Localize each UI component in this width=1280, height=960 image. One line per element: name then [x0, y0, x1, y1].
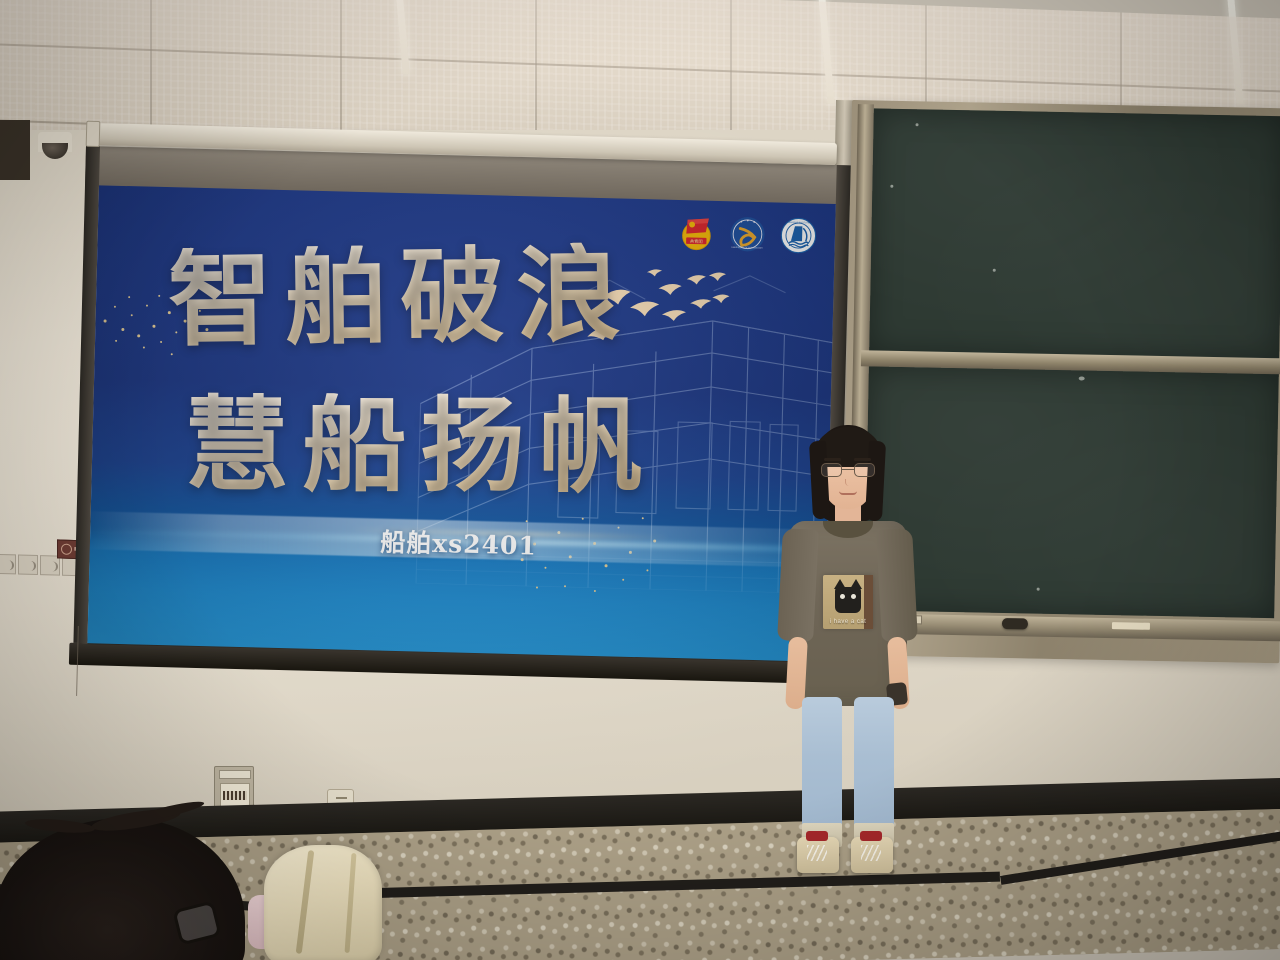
eyeglass-lens [172, 900, 221, 945]
projector-screen: 智舶破浪 慧船扬帆 船舶xs2401 共青团 [73, 146, 851, 680]
communist-youth-league-emblem-icon: 共青团 [678, 214, 716, 252]
cat-body [835, 587, 861, 613]
sneaker-right [851, 837, 893, 873]
roller-end-cap [86, 121, 101, 147]
presenter-nose [845, 479, 851, 486]
presenter-eyebrow [854, 458, 871, 461]
slide-title-line-1: 智舶破浪 [168, 242, 633, 352]
maritime-institute-logo-icon: MARITIME INSTITUTE [779, 217, 817, 255]
presenter-mouth [839, 491, 857, 495]
wall-tile [18, 554, 38, 575]
bag-zipper [296, 850, 315, 954]
bag-zipper [345, 853, 357, 953]
chalk-mark [1079, 376, 1085, 380]
audience-eyeglasses-icon [176, 905, 240, 945]
sneaker-left [797, 837, 839, 873]
presenter-eyebrow [824, 458, 841, 461]
jeans-leg-left [802, 697, 842, 847]
eyeglass-bridge [842, 469, 854, 470]
shoe-laces [807, 845, 827, 861]
cat-eye [840, 594, 845, 599]
round-eyeglasses-icon [821, 463, 875, 477]
university-logo-icon: UNIVERSITY OF TECHNOLOGY [729, 215, 767, 253]
dome-security-camera [38, 132, 72, 152]
eyeglass-lens [854, 463, 875, 477]
red-sock [860, 831, 882, 841]
chalk-mark [1037, 588, 1040, 591]
tshirt-sleeve-left [777, 528, 819, 642]
chalk-mark [993, 269, 996, 272]
presentation-slide: 智舶破浪 慧船扬帆 船舶xs2401 共青团 [87, 185, 835, 663]
black-cat-print: i have a cat [823, 575, 873, 629]
chalkboard-panel-upper [869, 108, 1280, 359]
slide-title-line-2: 慧船扬帆 [184, 393, 656, 499]
eyeglass-lens [821, 463, 842, 477]
chalk-mark [916, 123, 919, 126]
presenter-hair-side [865, 441, 886, 522]
classroom-photo-scene: ▮▮▮▮ [0, 0, 1280, 960]
svg-text:UNIVERSITY OF TECHNOLOGY: UNIVERSITY OF TECHNOLOGY [731, 247, 763, 250]
chalkboard-eraser[interactable] [1002, 618, 1028, 629]
standing-student-presenter: i have a cat [775, 425, 920, 905]
chalkboard-panel-lower [864, 366, 1279, 618]
cream-shoulder-bag [264, 845, 382, 960]
tshirt-slogan: i have a cat [823, 619, 873, 625]
shoe-laces [861, 845, 881, 861]
chalk-stick[interactable] [1112, 622, 1150, 630]
tshirt-sleeve-right [876, 528, 918, 642]
jeans-leg-right [854, 697, 894, 847]
wall-left-dark-edge [0, 120, 30, 180]
red-sock [806, 831, 828, 841]
wall-tile [0, 554, 16, 575]
cat-eye [851, 594, 856, 599]
slide-logo-row: 共青团 UNIVERSITY OF TECHNOLOGY [678, 214, 818, 255]
notice-icon [61, 544, 72, 555]
breaker-switches[interactable] [223, 791, 247, 800]
presenter-jeans [802, 697, 894, 847]
panel-label-plate [219, 770, 251, 779]
chalk-mark [890, 185, 893, 188]
